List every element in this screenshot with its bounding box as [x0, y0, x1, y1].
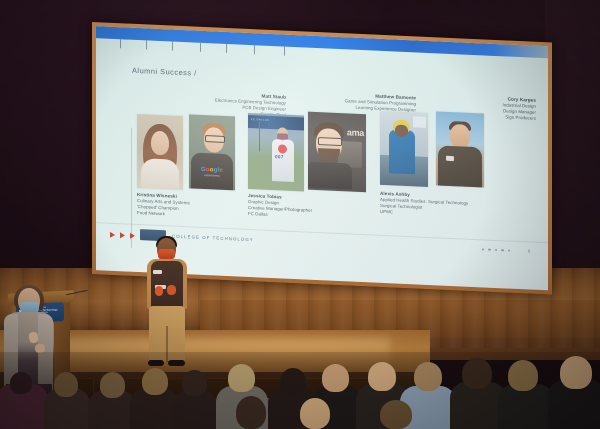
audience-member [322, 364, 349, 392]
photo-kristina-wisneski [137, 114, 183, 190]
audience-member [100, 372, 125, 398]
auditorium-left-wall [0, 0, 100, 290]
audience-member [182, 370, 207, 396]
screenshot-root: Alumni Success / Matt Staub Electronics … [0, 0, 600, 429]
audience-member [560, 356, 592, 389]
face-mask [158, 249, 175, 259]
gloved-hand [155, 286, 163, 296]
jersey-number: 007 [275, 154, 284, 159]
audience-member [54, 372, 78, 397]
photo-matthew-bamonte: ama [308, 112, 366, 193]
slide-arrow-markers-icon [110, 232, 135, 239]
gloved-hand [167, 285, 176, 295]
amazon-logo: ama [347, 127, 364, 138]
photo-alexis-ashby [380, 111, 428, 187]
audience-area [0, 352, 600, 429]
presenter [144, 238, 190, 370]
audience-member [300, 398, 330, 429]
audience-member [462, 358, 492, 389]
audience-member [380, 400, 412, 429]
audience-member [368, 362, 396, 391]
audience-member [508, 360, 538, 391]
photo-cory-karges [436, 111, 484, 187]
slide-progress-dots-icon [482, 248, 510, 252]
audience-member [414, 362, 442, 391]
alumnus-caption-alexis-ashby: Alexis Ashby Applied Health Studies: Sur… [380, 191, 540, 223]
photo-matt-staub: Google ENGINEERING [189, 114, 235, 190]
audience-member [236, 396, 266, 429]
audience-member [142, 368, 168, 395]
audience-member [228, 364, 255, 392]
slide-page-number: 9 [528, 248, 530, 253]
slide-title: Alumni Success / [132, 66, 197, 78]
photo-jessica-tobias: FC DALLAS 007 [248, 113, 304, 191]
slide-divider-rule [131, 128, 132, 248]
audience-member [280, 368, 306, 395]
google-logo: Google [198, 167, 226, 174]
audience-member [10, 372, 32, 394]
